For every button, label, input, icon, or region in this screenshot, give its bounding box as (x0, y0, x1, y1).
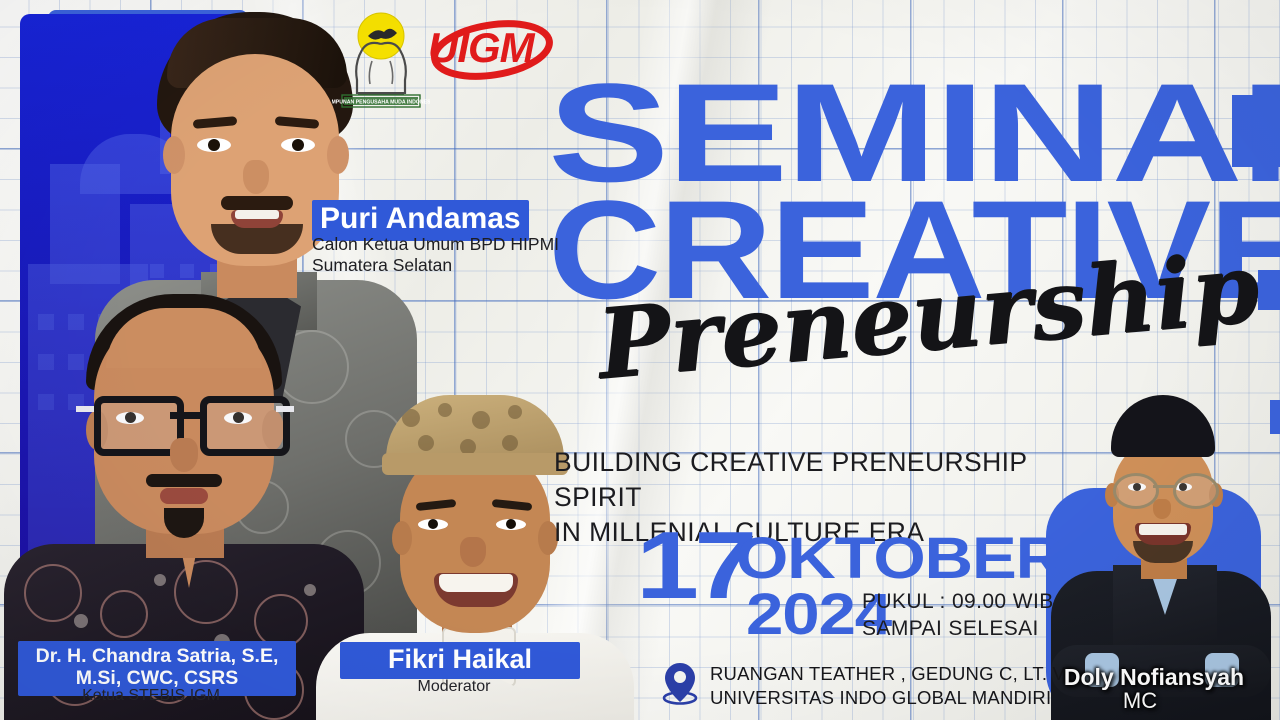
nameplate-chandra-line-1: Dr. H. Chandra Satria, S.E, (24, 646, 290, 668)
doly-lens-right (1173, 473, 1219, 509)
hipmi-logo: HIMPUNAN PENGUSAHA MUDA INDONESIA (332, 6, 430, 110)
doly-nose (1153, 499, 1171, 519)
seminar-poster: SEMINAR CREATIVE Preneurship (0, 0, 1280, 720)
fikri-eye-right (496, 519, 526, 530)
fikri-ear-left (392, 521, 412, 555)
chandra-mouth (160, 488, 208, 504)
uigm-logo-text: UIGM (428, 24, 534, 72)
date-month: OKTOBER (736, 534, 1063, 584)
venue-text: RUANGAN TEATHER , GEDUNG C, LT. V UNIVER… (710, 662, 1065, 708)
time-line-2: SAMPAI SELESAI (862, 615, 1054, 642)
chandra-glasses-temple-right (276, 406, 294, 412)
time-line-1: PUKUL : 09.00 WIB (862, 588, 1054, 615)
hipmi-logo-caption: HIMPUNAN PENGUSAHA MUDA INDONESIA (332, 100, 430, 106)
doly-smile (1135, 523, 1191, 545)
role-chandra-satria: Ketua STEBIS IGM (18, 687, 284, 705)
puri-eye-left (197, 138, 231, 152)
puri-ear-right (327, 136, 349, 174)
chandra-glasses-temple-left (76, 406, 94, 412)
venue-line-1: RUANGAN TEATHER , GEDUNG C, LT. V (710, 662, 1065, 685)
chandra-moustache (146, 474, 222, 487)
uigm-logo: UIGM (420, 14, 560, 84)
role-puri-line-1: Calon Ketua Umum BPD HIPMI (312, 234, 562, 255)
role-doly-nofiansyah: MC (1040, 688, 1240, 714)
puri-nose (243, 160, 269, 194)
puri-mouth (231, 210, 283, 228)
puri-ear-left (163, 136, 185, 174)
role-puri-andamas: Calon Ketua Umum BPD HIPMI Sumatera Sela… (312, 234, 562, 277)
photo-chandra-satria (28, 292, 358, 692)
role-puri-line-2: Sumatera Selatan (312, 255, 562, 276)
doly-lens-left (1113, 473, 1159, 509)
fikri-nose (460, 537, 486, 567)
chandra-glasses-bridge (170, 412, 200, 419)
subtitle-line-1: BUILDING CREATIVE PRENEURSHIP SPIRIT (554, 445, 1114, 515)
nameplate-fikri-haikal: Fikri Haikal (340, 642, 580, 679)
venue-block: RUANGAN TEATHER , GEDUNG C, LT. V UNIVER… (660, 660, 1065, 711)
role-fikri-haikal: Moderator (340, 678, 568, 696)
chandra-nose (170, 438, 198, 472)
title-block: SEMINAR CREATIVE Preneurship (548, 78, 1248, 304)
doly-glasses-bridge (1153, 485, 1175, 488)
location-pin-icon (660, 660, 700, 711)
doly-peci-cap (1111, 395, 1215, 457)
chandra-lens-right (200, 396, 290, 456)
fikri-smile (434, 573, 518, 607)
fikri-cap-band (382, 453, 568, 475)
puri-eye-right (281, 138, 315, 152)
time-block: PUKUL : 09.00 WIB SAMPAI SELESAI (862, 588, 1054, 643)
fikri-eye-left (418, 519, 448, 530)
chandra-eyeglasses (90, 396, 280, 442)
venue-line-2: UNIVERSITAS INDO GLOBAL MANDIRI (710, 686, 1065, 709)
decor-block-right-lower (1270, 400, 1280, 434)
puri-moustache (221, 196, 293, 210)
